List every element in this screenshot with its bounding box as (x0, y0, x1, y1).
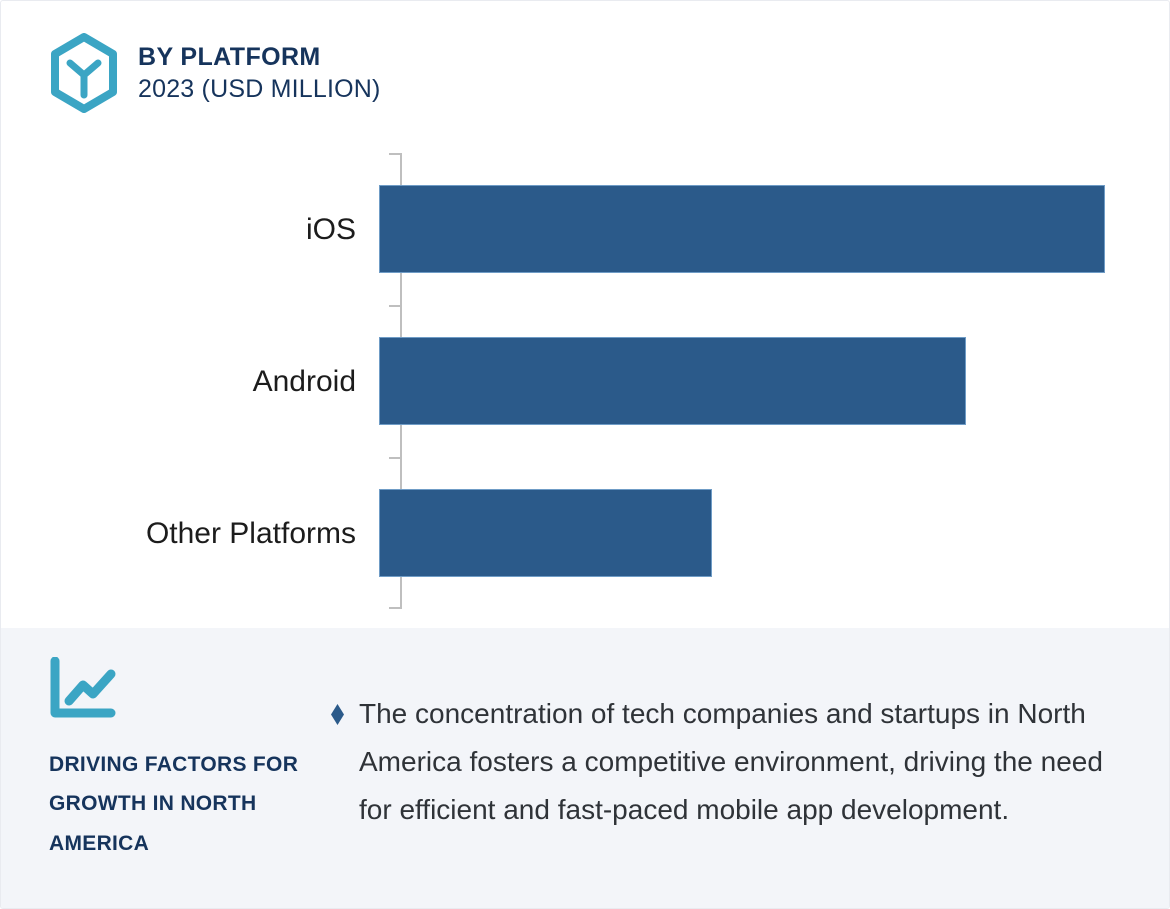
bar-other-platforms (379, 489, 712, 577)
bar-track (379, 457, 1170, 609)
list-item-text: The concentration of tech companies and … (359, 690, 1121, 834)
list-item: The concentration of tech companies and … (331, 690, 1141, 834)
category-label: Android (1, 365, 379, 398)
category-label: iOS (1, 213, 379, 246)
page-subtitle: 2023 (USD MILLION) (138, 73, 381, 105)
hexagon-y-logo-icon (47, 33, 121, 113)
driving-factors-panel: DRIVING FACTORS FOR GROWTH IN NORTH AMER… (1, 628, 1170, 909)
bar-ios (379, 185, 1105, 273)
driving-factors-list: The concentration of tech companies and … (331, 628, 1170, 834)
chart-card: BY PLATFORM 2023 (USD MILLION) iOS Andro… (0, 0, 1170, 909)
driving-factors-title: DRIVING FACTORS FOR GROWTH IN NORTH AMER… (49, 745, 331, 863)
bar-row: Android (1, 305, 1170, 457)
bar-track (379, 305, 1170, 457)
header-text-block: BY PLATFORM 2023 (USD MILLION) (138, 33, 381, 105)
bar-chart: iOS Android Other Platforms (1, 141, 1170, 621)
bar-track (379, 153, 1170, 305)
bar-row: Other Platforms (1, 457, 1170, 609)
bar-android (379, 337, 966, 425)
category-label: Other Platforms (1, 517, 379, 550)
line-chart-growth-icon (49, 657, 121, 719)
page-title: BY PLATFORM (138, 41, 381, 73)
diamond-bullet-icon (331, 704, 344, 725)
bar-row: iOS (1, 153, 1170, 305)
card-header: BY PLATFORM 2023 (USD MILLION) (47, 33, 381, 113)
driving-factors-heading-block: DRIVING FACTORS FOR GROWTH IN NORTH AMER… (1, 628, 331, 863)
